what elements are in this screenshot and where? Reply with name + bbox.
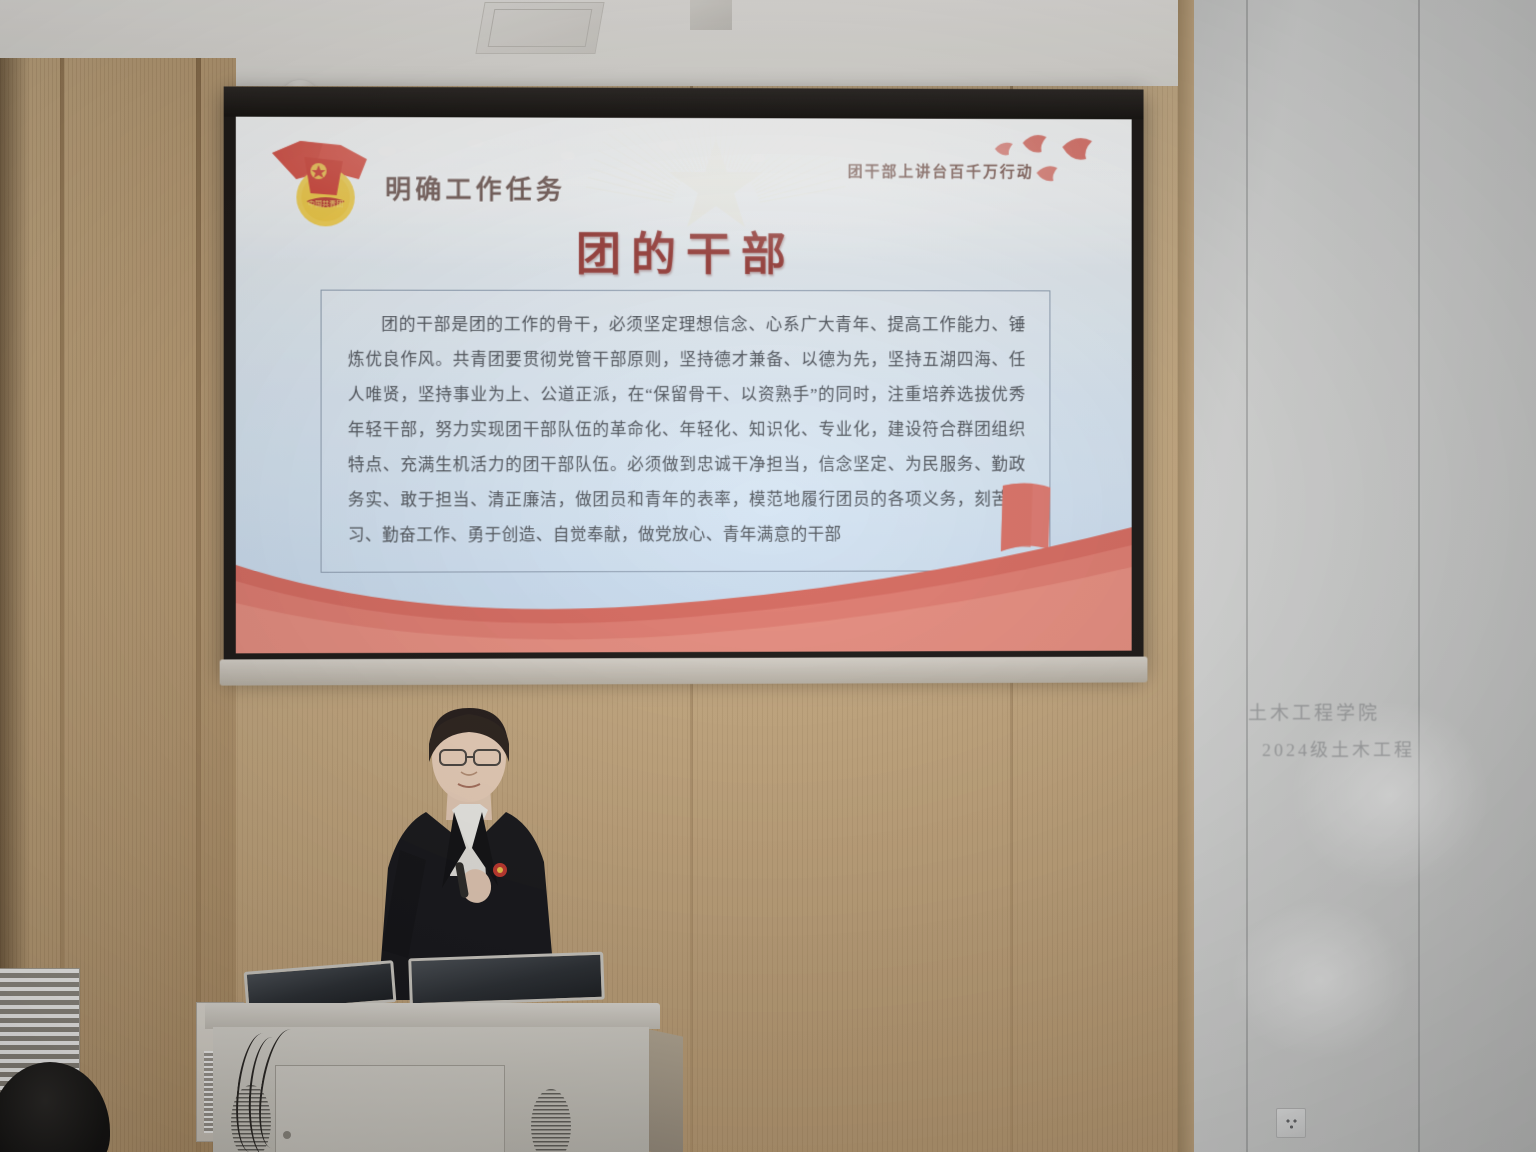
presentation-slide: 中国共青团 明确工作任务 团干部上讲台百千万行动 团的干部 团的干部是团的工作的…	[236, 117, 1132, 654]
podium-body	[213, 1027, 649, 1152]
podium-top-surface	[205, 1003, 660, 1029]
ceiling-air-vent	[475, 2, 604, 54]
wall-trim	[1178, 0, 1194, 1152]
podium-side-shelf	[649, 1029, 683, 1152]
whiteboard-seam	[1418, 0, 1420, 1152]
whiteboard-note-line-2: 2024级土木工程	[1262, 736, 1415, 762]
power-outlet[interactable]	[1276, 1108, 1306, 1138]
lecture-hall-scene: 土木工程学院 2024级土木工程	[0, 0, 1536, 1152]
projector-screen: 中国共青团 明确工作任务 团干部上讲台百千万行动 团的干部 团的干部是团的工作的…	[224, 86, 1144, 675]
podium-access-panel[interactable]	[275, 1065, 505, 1152]
podium	[205, 1003, 660, 1152]
podium-speaker-grille	[531, 1089, 571, 1152]
whiteboard-note-line-1: 土木工程学院	[1248, 698, 1380, 725]
whiteboard-seam	[1246, 0, 1248, 1152]
screen-top-bar	[224, 86, 1144, 119]
red-wave-decoration	[236, 501, 1132, 653]
doves-icon	[977, 127, 1116, 207]
podium-monitor-right[interactable]	[408, 952, 605, 1007]
slide-title: 团的干部	[236, 217, 1132, 283]
ceiling-air-vent-secondary	[690, 0, 732, 30]
screen-bottom-bar	[220, 657, 1148, 686]
whiteboard-wall	[1178, 0, 1536, 1152]
slide-kicker-text: 明确工作任务	[385, 169, 566, 206]
svg-text:中国共青团: 中国共青团	[308, 199, 343, 208]
